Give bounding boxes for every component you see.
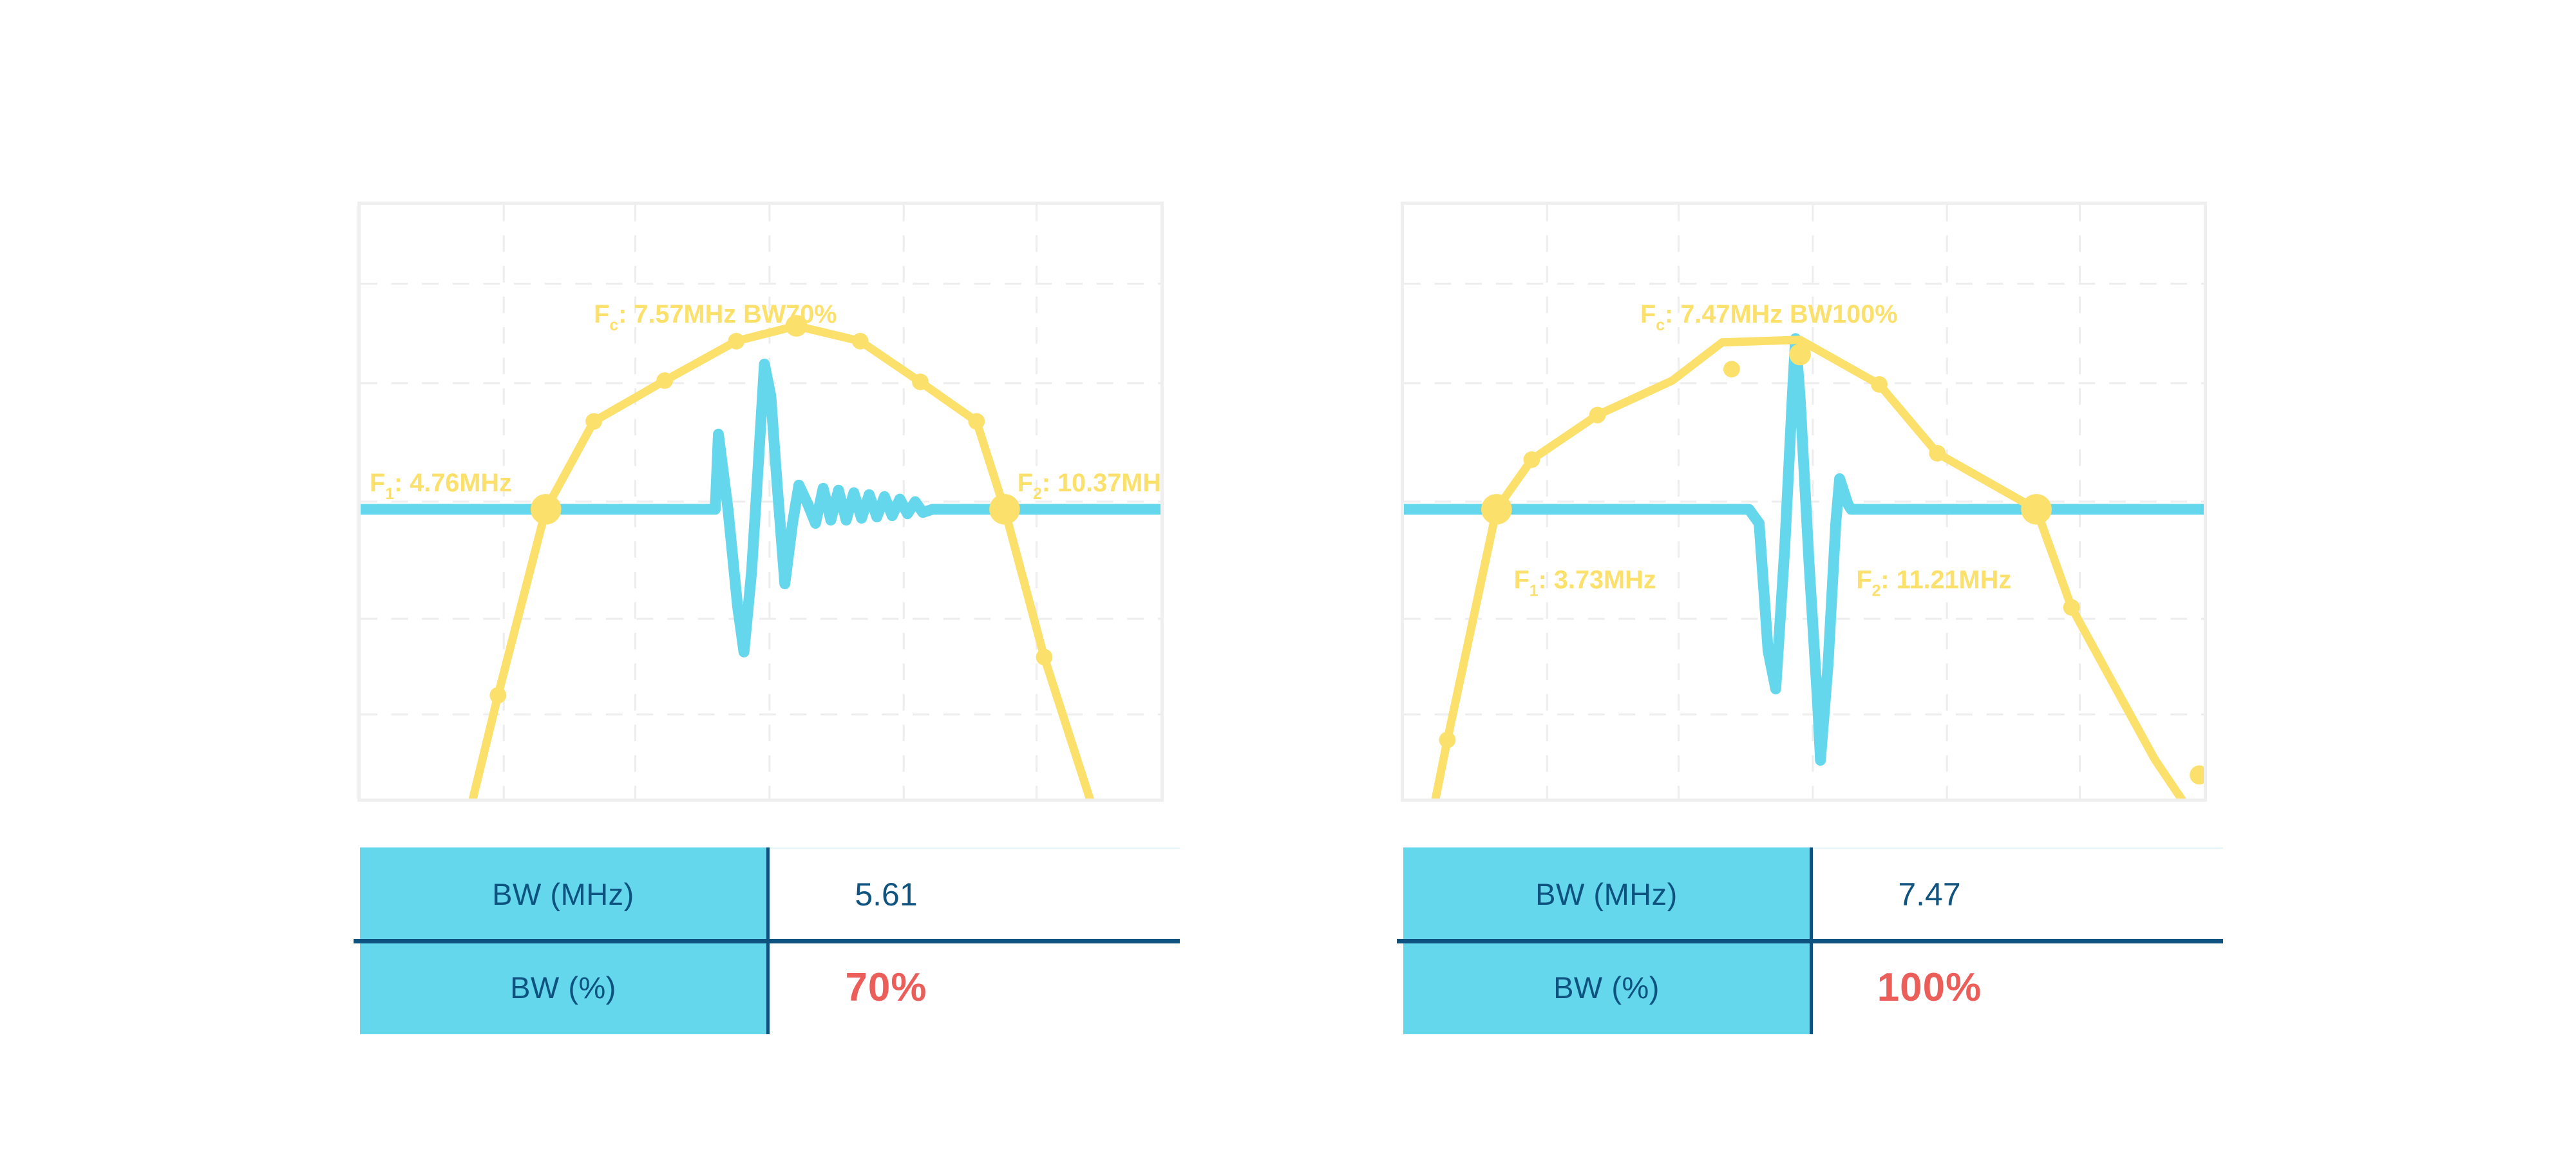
fc-label-left: F (594, 300, 609, 328)
fc-text-right: : 7.47MHz BW100% (1665, 300, 1897, 328)
marker-f1-left (531, 494, 562, 524)
f1-label-right: F (1514, 566, 1529, 594)
bw-pct-value-right: 100% (1877, 965, 1982, 1010)
annotation-f1-right: F1: 3.73MHz (1514, 566, 1656, 600)
f1-subscript-right: 1 (1529, 582, 1539, 600)
f2-text-right: : 11.21MHz (1880, 566, 2011, 594)
bw-table-right: BW (MHz) 7.47 BW (%) 100% (1403, 847, 2223, 1034)
table-horizontal-divider-left (354, 939, 1180, 943)
f2-subscript-right: 2 (1872, 582, 1881, 600)
bw-pct-value-left: 70% (845, 965, 927, 1010)
f1-text-left: : 4.76MHz (394, 469, 512, 497)
bw-mhz-label-right: BW (MHz) (1403, 847, 1810, 941)
chart-svg-right: Fc: 7.47MHz BW100% F1: 3.73MHz F2: 11.21… (1404, 205, 2204, 799)
fc-text-left: : 7.57MHz BW70% (618, 300, 837, 328)
waveform-trace-left (361, 364, 1160, 652)
marker-f2-right (2021, 494, 2052, 524)
table-top-hairline-right (1810, 847, 2223, 849)
table-row: BW (MHz) 7.47 (1403, 847, 2223, 941)
table-horizontal-divider-right (1397, 939, 2223, 943)
bw-mhz-value-right: 7.47 (1898, 876, 1960, 913)
spectrum-markers-left (489, 315, 1103, 799)
annotation-f1-left: F1: 4.76MHz (370, 469, 512, 503)
svg-text:F1: 3.73MHz: F1: 3.73MHz (1514, 566, 1656, 600)
waveform-trace-right (1404, 339, 2204, 761)
chart-panel-right: Fc: 7.47MHz BW100% F1: 3.73MHz F2: 11.21… (1043, 0, 2331, 1154)
marker-f2-left (989, 494, 1020, 524)
f1-text-right: : 3.73MHz (1539, 566, 1656, 594)
svg-text:F2: 11.21MHz: F2: 11.21MHz (1856, 566, 2011, 600)
bw-pct-label-right: BW (%) (1403, 941, 1810, 1034)
marker-f1-right (1481, 494, 1512, 524)
f1-label-left: F (370, 469, 385, 497)
chart-plot-area-left: Fc: 7.57MHz BW70% F1: 4.76MHz F2: 10.37M… (361, 205, 1160, 799)
bw-mhz-label-left: BW (MHz) (360, 847, 766, 941)
table-top-hairline-left (766, 847, 1180, 849)
f2-subscript-left: 2 (1033, 486, 1042, 503)
svg-text:F1: 4.76MHz: F1: 4.76MHz (370, 469, 512, 503)
chart-frame-right: Fc: 7.47MHz BW100% F1: 3.73MHz F2: 11.21… (1401, 202, 2207, 802)
fc-subscript-right: c (1656, 317, 1665, 334)
bw-pct-value-cell-right: 100% (1810, 941, 2223, 1034)
f1-subscript-left: 1 (385, 486, 394, 503)
chart-svg-left: Fc: 7.57MHz BW70% F1: 4.76MHz F2: 10.37M… (361, 205, 1160, 799)
table-row: BW (%) 100% (1403, 941, 2223, 1034)
bw-mhz-value-left: 5.61 (855, 876, 917, 913)
fc-label-right: F (1640, 300, 1656, 328)
bw-pct-label-left: BW (%) (360, 941, 766, 1034)
fc-subscript-left: c (609, 317, 618, 334)
bw-mhz-value-cell-right: 7.47 (1810, 847, 2223, 941)
chart-plot-area-right: Fc: 7.47MHz BW100% F1: 3.73MHz F2: 11.21… (1404, 205, 2204, 799)
f2-label-right: F (1856, 566, 1871, 594)
annotation-f2-right: F2: 11.21MHz (1856, 566, 2011, 600)
f2-label-left: F (1018, 469, 1033, 497)
